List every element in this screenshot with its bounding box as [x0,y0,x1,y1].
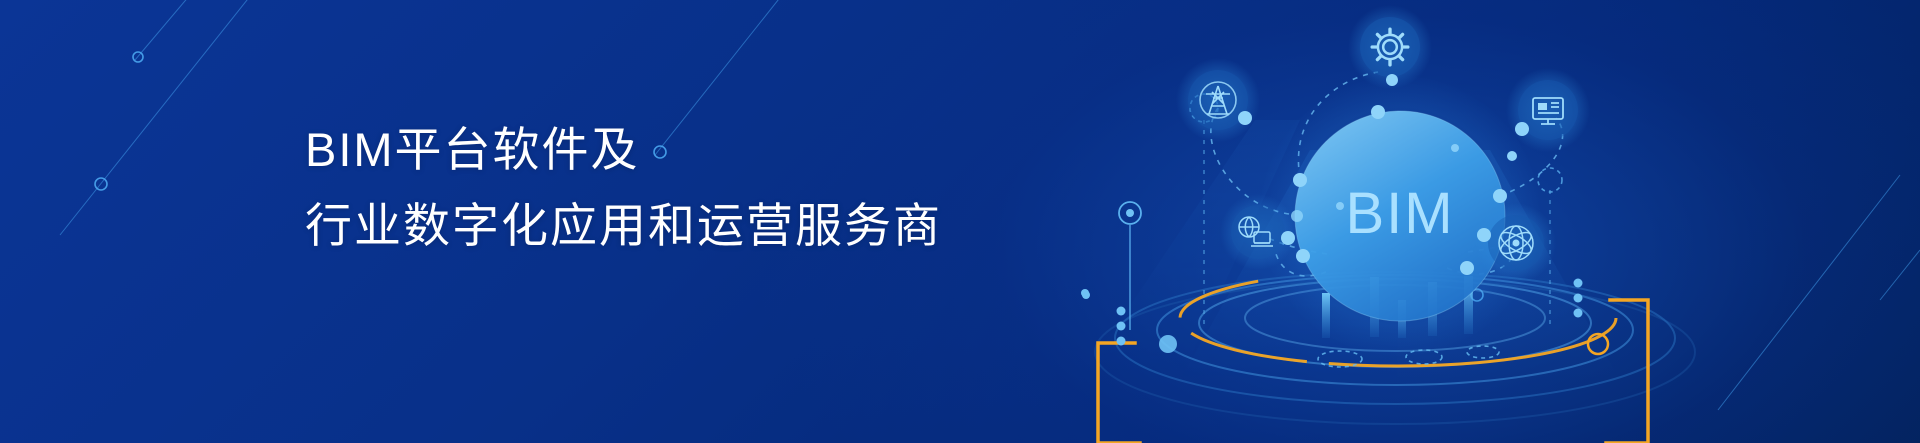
node-gear [1348,5,1432,89]
node-globe-laptop [1220,194,1296,270]
node-power-tower [1176,58,1260,142]
background-decoration: BIM [0,0,1920,443]
hero-banner: BIM BIM平台软件及 行业数字化应用和运营服务商 [0,0,1920,443]
headline-line-1: BIM平台软件及 [305,112,942,188]
headline-line-2: 行业数字化应用和运营服务商 [305,188,942,264]
sphere-label: BIM [1345,181,1454,246]
node-network [1476,203,1556,283]
headline-block: BIM平台软件及 行业数字化应用和运营服务商 [305,112,942,264]
